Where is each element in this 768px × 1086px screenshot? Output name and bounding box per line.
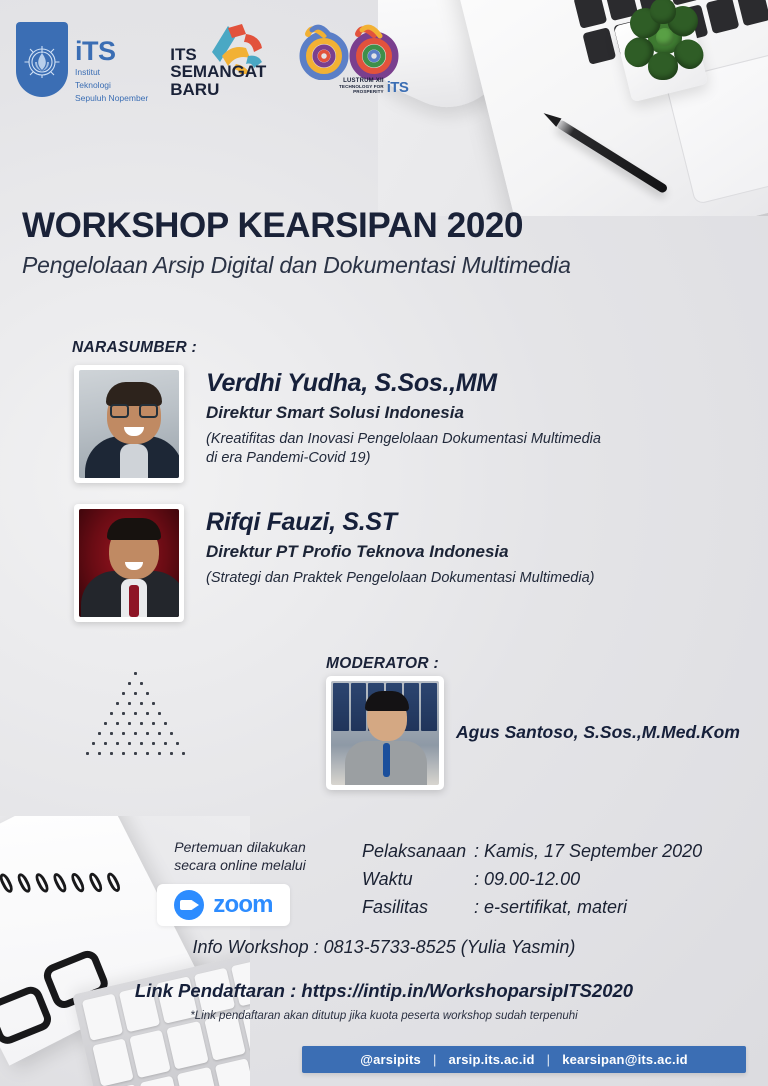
page-subtitle: Pengelolaan Arsip Digital dan Dokumentas… bbox=[22, 252, 571, 279]
speaker-role: Direktur PT Profio Teknova Indonesia bbox=[206, 542, 594, 562]
schedule-value: : 09.00-12.00 bbox=[474, 866, 580, 894]
schedule-key: Pelaksanaan bbox=[362, 838, 474, 866]
title-block: WORKSHOP KEARSIPAN 2020 Pengelolaan Arsi… bbox=[22, 208, 571, 279]
lustrum-caption: LUSTRUM XII TECHNOLOGY FOR PROSPERITY iT… bbox=[308, 78, 408, 94]
semangat-baru-line2: SEMANGAT bbox=[170, 63, 266, 80]
its-shield-icon bbox=[16, 22, 68, 97]
its-semangat-baru-logo: ITS SEMANGAT BARU bbox=[170, 22, 268, 100]
speaker-topic-line1: (Kreatifitas dan Inovasi Pengelolaan Dok… bbox=[206, 431, 601, 447]
schedule-key: Fasilitas bbox=[362, 894, 474, 922]
page-title: WORKSHOP KEARSIPAN 2020 bbox=[22, 208, 571, 245]
speaker-name: Rifqi Fauzi, S.ST bbox=[206, 508, 594, 537]
lustrum-sixty-mark-icon bbox=[290, 22, 408, 80]
lustrum-caption-line2: TECHNOLOGY FOR PROSPERITY bbox=[308, 84, 383, 94]
speaker-item-2: Rifqi Fauzi, S.ST Direktur PT Profio Tek… bbox=[74, 504, 594, 622]
speakers-label: NARASUMBER : bbox=[72, 339, 197, 357]
schedule-list: Pelaksanaan : Kamis, 17 September 2020 W… bbox=[362, 838, 702, 922]
footer-separator: | bbox=[433, 1052, 437, 1067]
moderator-label: MODERATOR : bbox=[326, 655, 439, 673]
dot-triangle-decoration bbox=[82, 672, 190, 762]
lustrum-its-acronym: iTS bbox=[387, 82, 409, 94]
registration-link[interactable]: Link Pendaftaran : https://intip.in/Work… bbox=[0, 980, 768, 1002]
zoom-wordmark: zoom bbox=[213, 891, 272, 919]
semangat-baru-line1: ITS bbox=[170, 46, 266, 63]
its-logo: iTS Institut Teknologi Sepuluh Nopember bbox=[16, 22, 148, 105]
zoom-camera-icon bbox=[174, 890, 204, 920]
registration-disclaimer: *Link pendaftaran akan ditutup jika kuot… bbox=[0, 1010, 768, 1022]
schedule-row: Pelaksanaan : Kamis, 17 September 2020 bbox=[362, 838, 702, 866]
logo-row: iTS Institut Teknologi Sepuluh Nopember … bbox=[16, 22, 408, 105]
its-logo-wordmark: iTS Institut Teknologi Sepuluh Nopember bbox=[75, 22, 148, 105]
footer-website[interactable]: arsip.its.ac.id bbox=[449, 1052, 535, 1067]
its-name-line1: Institut bbox=[75, 67, 148, 78]
schedule-key: Waktu bbox=[362, 866, 474, 894]
lustrum-60-logo: LUSTRUM XII TECHNOLOGY FOR PROSPERITY iT… bbox=[290, 22, 408, 102]
its-acronym: iTS bbox=[75, 38, 148, 65]
speaker-name: Verdhi Yudha, S.Sos.,MM bbox=[206, 369, 601, 398]
moderator-photo-agus bbox=[326, 676, 444, 790]
zoom-logo: zoom bbox=[157, 884, 290, 926]
its-name-line3: Sepuluh Nopember bbox=[75, 93, 148, 104]
speaker-item-1: Verdhi Yudha, S.Sos.,MM Direktur Smart S… bbox=[74, 365, 601, 483]
platform-note-line2: secara online melalui bbox=[174, 857, 306, 873]
speaker-topic-line1: (Strategi dan Praktek Pengelolaan Dokume… bbox=[206, 569, 594, 588]
footer-contact-bar: @arsipits | arsip.its.ac.id | kearsipan@… bbox=[302, 1046, 746, 1073]
footer-instagram[interactable]: @arsipits bbox=[360, 1052, 421, 1067]
schedule-row: Waktu : 09.00-12.00 bbox=[362, 866, 702, 894]
moderator-name: Agus Santoso, S.Sos.,M.Med.Kom bbox=[456, 722, 740, 743]
succulent-plant-icon bbox=[618, 0, 712, 88]
desk-photo-top-right bbox=[378, 0, 768, 216]
speaker-photo-verdhi bbox=[74, 365, 184, 483]
semangat-baru-wordmark: ITS SEMANGAT BARU bbox=[170, 46, 266, 98]
footer-email[interactable]: kearsipan@its.ac.id bbox=[562, 1052, 688, 1067]
footer-separator: | bbox=[547, 1052, 551, 1067]
speaker-role: Direktur Smart Solusi Indonesia bbox=[206, 403, 601, 423]
schedule-value: : Kamis, 17 September 2020 bbox=[474, 838, 702, 866]
info-workshop-line: Info Workshop : 0813-5733-8525 (Yulia Ya… bbox=[0, 937, 768, 958]
platform-note-line1: Pertemuan dilakukan bbox=[174, 839, 306, 855]
schedule-value: : e-sertifikat, materi bbox=[474, 894, 627, 922]
poster-canvas: iTS Institut Teknologi Sepuluh Nopember … bbox=[0, 0, 768, 1086]
semangat-baru-line3: BARU bbox=[170, 81, 266, 98]
speaker-photo-rifqi bbox=[74, 504, 184, 622]
speaker-topic-line2: di era Pandemi-Covid 19) bbox=[206, 450, 370, 466]
its-name-line2: Teknologi bbox=[75, 80, 148, 91]
platform-note: Pertemuan dilakukan secara online melalu… bbox=[155, 838, 325, 875]
schedule-row: Fasilitas : e-sertifikat, materi bbox=[362, 894, 702, 922]
